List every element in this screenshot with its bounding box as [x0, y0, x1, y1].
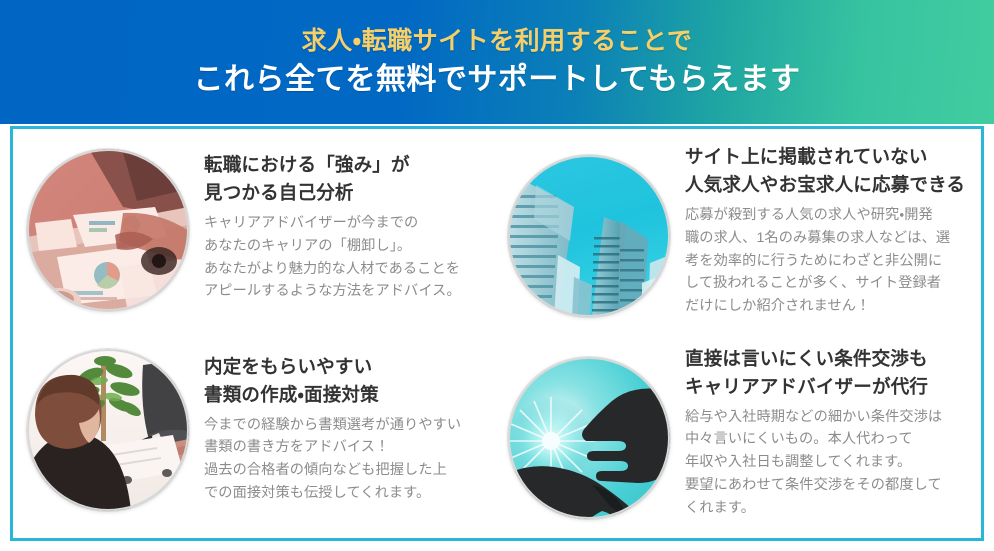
banner-headline-line1: 求人・転職サイトを利用することで	[302, 26, 693, 57]
benefit-card-text: キャリアアドバイザーが今までの あなたのキャリアの「棚卸し」。 あなたがより魅力…	[204, 212, 494, 303]
benefit-card: 内定をもらいやすい 書類の作成・面接対策 今までの経験から書類選考が通りやすい …	[19, 339, 500, 541]
benefit-card-text: 今までの経験から書類選考が通りやすい 書類の書き方をアドバイス！ 過去の合格者の…	[204, 414, 494, 505]
handshake-silhouette-photo	[508, 357, 670, 519]
benefit-card-body: サイト上に掲載されていない 人気求人やお宝求人に応募できる 応募が殺到する人気の…	[670, 141, 975, 318]
benefit-card-text: 給与や入社時期などの細かい条件交渉は 中々言いにくいもの。本人代わって 年収や入…	[685, 406, 975, 520]
skyscrapers-photo	[508, 155, 670, 317]
banner-headline-line2: これら全てを無料でサポートしてもらえます	[194, 61, 801, 99]
benefit-card-grid: 転職における「強み」が 見つかる自己分析 キャリアアドバイザーが今までの あなた…	[13, 129, 987, 544]
benefit-card-text: 応募が殺到する人気の求人や研究・開発 職の求人、1名のみ募集の求人などは、選 考…	[685, 204, 975, 318]
benefit-card-title: サイト上に掲載されていない 人気求人やお宝求人に応募できる	[685, 143, 975, 199]
benefit-card-body: 転職における「強み」が 見つかる自己分析 キャリアアドバイザーが今までの あなた…	[189, 141, 494, 303]
benefit-card: サイト上に掲載されていない 人気求人やお宝求人に応募できる 応募が殺到する人気の…	[500, 137, 981, 339]
infographic-page: 求人・転職サイトを利用することで これら全てを無料でサポートしてもらえます	[0, 0, 994, 551]
benefit-card-body: 直接は言いにくい条件交渉も キャリアアドバイザーが代行 給与や入社時期などの細か…	[670, 343, 975, 520]
benefit-card-body: 内定をもらいやすい 書類の作成・面接対策 今までの経験から書類選考が通りやすい …	[189, 343, 494, 505]
header-banner: 求人・転職サイトを利用することで これら全てを無料でサポートしてもらえます	[0, 0, 994, 124]
desk-documents-charts-photo	[27, 149, 189, 311]
benefit-card-title: 転職における「強み」が 見つかる自己分析	[204, 151, 494, 207]
content-frame: 転職における「強み」が 見つかる自己分析 キャリアアドバイザーが今までの あなた…	[10, 126, 984, 541]
benefit-card: 転職における「強み」が 見つかる自己分析 キャリアアドバイザーが今までの あなた…	[19, 137, 500, 339]
benefit-card-title: 内定をもらいやすい 書類の作成・面接対策	[204, 353, 494, 409]
benefit-card-title: 直接は言いにくい条件交渉も キャリアアドバイザーが代行	[685, 345, 975, 401]
benefit-card: 直接は言いにくい条件交渉も キャリアアドバイザーが代行 給与や入社時期などの細か…	[500, 339, 981, 541]
job-interview-photo	[27, 349, 189, 511]
